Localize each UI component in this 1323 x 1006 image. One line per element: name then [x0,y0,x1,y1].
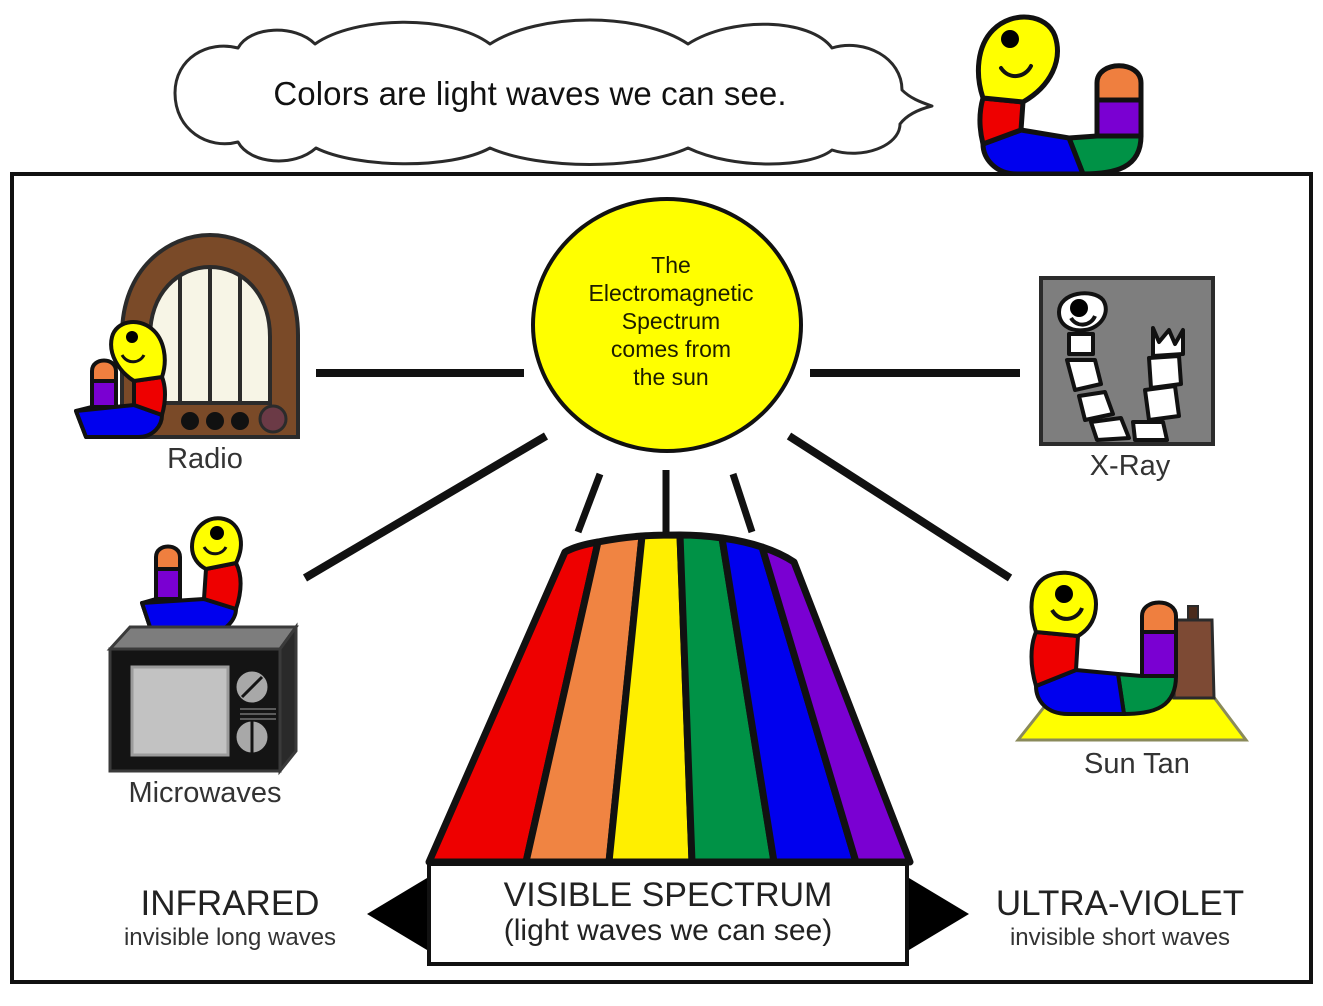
infrared-label: INFRARED invisible long waves [90,884,370,952]
visible-spectrum-subtitle: (light waves we can see) [431,914,905,948]
xray-icon: X-Ray [1035,272,1225,472]
sun-line-3: Spectrum [622,308,720,334]
st-worm-eye [1055,585,1073,603]
worm-mascot [955,8,1155,173]
worm-segment-orange [1097,66,1141,100]
radio-dial [260,406,286,432]
st-worm-head [1032,573,1096,636]
sun-label: The Electromagnetic Spectrum comes from … [535,251,807,391]
microwave-side [280,627,296,771]
worm-eye [1001,30,1019,48]
worm-mascot-shape [955,8,1155,173]
mw-worm-purple [156,569,180,599]
infrared-arrow-icon [367,878,427,950]
radio-label: Radio [100,443,310,476]
radio-worm-head [111,322,165,381]
radio-knob-3 [231,412,249,430]
infrared-title: INFRARED [90,884,370,924]
ultraviolet-subtitle: invisible short waves [960,924,1280,952]
suntan-icon: Sun Tan [1000,570,1270,790]
mw-worm-tail [156,547,180,570]
microwave-window [132,667,228,755]
visible-spectrum-fan [410,530,930,875]
suntan-label: Sun Tan [1022,748,1252,781]
suntan-lotion [1174,606,1214,698]
radio-knob-1 [181,412,199,430]
radio-worm-tail [92,361,116,382]
st-worm-purple [1142,632,1176,676]
radio-shape [60,225,350,455]
diagram-canvas: Colors are light waves we can see. [0,0,1323,1001]
mw-worm-eye [210,526,224,540]
microwave-top [110,627,296,649]
worm-head [978,17,1057,102]
sun-line-5: the sun [633,364,708,390]
spectrum-bands [410,530,930,875]
speech-bubble-text: Colors are light waves we can see. [180,76,880,112]
visible-spectrum-box: VISIBLE SPECTRUM (light waves we can see… [427,862,909,966]
sun-circle: The Electromagnetic Spectrum comes from … [531,197,803,453]
st-worm-tail [1142,603,1176,633]
speech-bubble: Colors are light waves we can see. [120,18,950,168]
radio-knob-2 [206,412,224,430]
xray-worm-eye [1070,299,1088,317]
xray-shape [1035,272,1225,472]
microwave-shape [100,515,350,785]
radio-icon: Radio [60,225,350,455]
ultraviolet-title: ULTRA-VIOLET [960,884,1280,924]
xray-label: X-Ray [1030,450,1230,483]
sun-line-4: comes from [611,336,731,362]
worm-segment-purple [1097,100,1141,136]
visible-spectrum-title: VISIBLE SPECTRUM [431,876,905,914]
radio-worm-purple [92,381,116,407]
mw-worm-head [192,518,241,569]
radio-worm-eye [126,331,138,343]
microwave-icon: Microwaves [100,515,350,785]
microwaves-label: Microwaves [95,777,315,810]
sun-line-1: The [651,252,691,278]
ultraviolet-label: ULTRA-VIOLET invisible short waves [960,884,1280,952]
infrared-subtitle: invisible long waves [90,924,370,952]
sun-line-2: Electromagnetic [589,280,754,306]
